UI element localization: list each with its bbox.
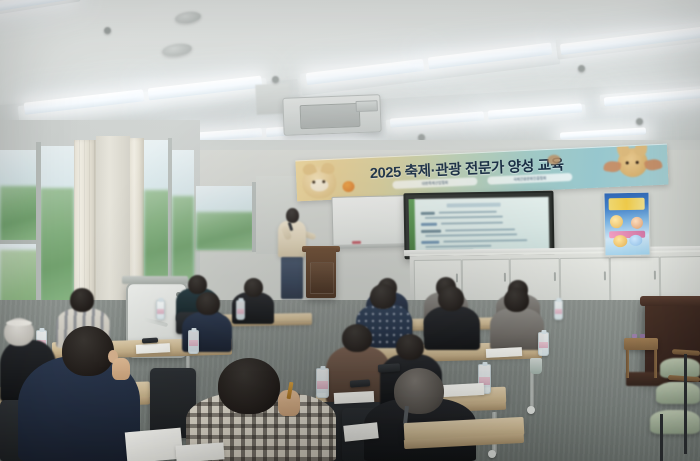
podium: [306, 248, 336, 298]
bottle-cap: [191, 328, 196, 332]
cabinet-handle-icon[interactable]: [504, 273, 506, 282]
cat-mascot-icon: [302, 166, 337, 200]
cabinet-handle-icon[interactable]: [604, 271, 606, 280]
org-badge-right: 국제관광문화진흥협회: [487, 172, 572, 184]
stacked-chair: [656, 382, 700, 404]
cabinet-handle-icon[interactable]: [654, 271, 656, 280]
slide-text-line: [425, 233, 517, 237]
slide-text-line: [441, 222, 503, 225]
water-bottle: [316, 368, 329, 398]
orange-fruit-icon: [342, 181, 354, 193]
side-table-item: [640, 334, 645, 338]
attendee-head: [342, 324, 372, 352]
air-conditioner-unit: [282, 94, 381, 136]
attendee-body: [424, 306, 480, 350]
poster-graphic: [613, 235, 627, 247]
water-bottle: [188, 330, 199, 354]
cat-ear-icon: [301, 162, 317, 177]
attendee-hand: [112, 358, 130, 380]
window-mullion: [36, 142, 41, 322]
smartphone[interactable]: [350, 379, 370, 387]
piano-lid: [640, 296, 700, 306]
bottle-cap: [541, 330, 546, 334]
partition-frame: [122, 276, 188, 284]
slide-text-line: [421, 212, 435, 215]
slide-heading: [447, 203, 501, 208]
cat-ear-icon: [320, 161, 336, 175]
paper-document: [125, 428, 183, 461]
podium-panel: [310, 262, 334, 294]
attendee-body: [490, 308, 544, 350]
attendee-head: [438, 286, 464, 311]
window-view-trees: [40, 188, 74, 316]
bottle-label: [157, 309, 164, 314]
attendee-head: [504, 288, 529, 312]
attendee-head: [196, 292, 220, 315]
water-bottle: [156, 300, 165, 320]
speaker-head: [286, 208, 299, 223]
attendee-head: [62, 326, 114, 376]
wall-poster: [603, 192, 650, 257]
org-badge-left: 대한축제산업협회: [392, 177, 477, 189]
stacked-chair: [650, 410, 700, 434]
table-caster: [527, 406, 535, 414]
attendee-head: [244, 278, 263, 297]
window-view-trees: [172, 196, 194, 280]
sprinkler-icon: [578, 65, 585, 72]
paper-document: [175, 442, 224, 461]
bottle-cap: [482, 362, 487, 366]
cabinet-handle-icon[interactable]: [554, 272, 556, 281]
bat-ear-icon: [634, 144, 649, 157]
table-caster: [488, 450, 496, 458]
side-table: [624, 338, 658, 350]
poster-title-banner: [609, 198, 645, 211]
bottle-label: [317, 381, 328, 389]
bottle-cap: [556, 298, 561, 302]
sprinkler-icon: [104, 27, 111, 34]
window-view-trees: [144, 190, 170, 290]
slide-text-line: [425, 216, 503, 219]
slide-text-line: [421, 241, 439, 244]
bat-wing-icon: [644, 157, 663, 172]
slide-text-line: [421, 230, 441, 233]
lecture-room-photo: 2025 축제·관광 전문가 양성 교육 대한축제산업협회 국제관광문화진흥협회: [0, 0, 700, 461]
speaker-pants: [281, 255, 303, 299]
poster-graphic: [629, 235, 642, 246]
whiteboard: [331, 195, 406, 249]
water-bottle: [554, 300, 563, 320]
drink-cup: [530, 358, 542, 374]
bottle-cap: [39, 328, 44, 332]
attendee-head: [370, 284, 396, 309]
whiteboard-marker: [352, 241, 361, 244]
paper-document: [486, 347, 522, 358]
paper-document: [442, 383, 485, 397]
window-blind: [130, 138, 144, 288]
window-view-trees: [196, 212, 254, 250]
smartphone[interactable]: [378, 363, 401, 373]
attendee-head: [396, 334, 424, 360]
sprinkler-icon: [272, 76, 279, 83]
attendee-head: [188, 275, 207, 294]
slide-text-line: [443, 239, 527, 242]
bat-mascot-icon: [617, 147, 648, 177]
paper-document: [136, 343, 170, 354]
window-view-trees: [0, 186, 40, 242]
water-bottle: [538, 332, 549, 356]
poster-graphic: [610, 215, 623, 228]
bottle-label: [539, 342, 548, 348]
bat-wing-icon: [603, 160, 622, 174]
poster-graphic: [631, 217, 643, 229]
chair-leg: [660, 414, 663, 461]
bottle-cap: [238, 298, 243, 302]
screen-document: [415, 197, 550, 254]
slide-text-line: [439, 211, 497, 214]
attendee-head: [394, 368, 444, 414]
wall-pillar: [96, 136, 130, 326]
side-table-item: [632, 334, 637, 338]
hair-accessory: [6, 320, 32, 326]
bat-ear-icon: [615, 144, 631, 158]
bottle-label: [555, 309, 562, 314]
bat-eye-icon: [626, 161, 629, 164]
sprinkler-icon: [636, 118, 643, 125]
chair-leg: [684, 354, 687, 454]
attendee-head: [218, 358, 280, 414]
table-leg: [654, 350, 657, 378]
cabinet-handle-icon[interactable]: [456, 273, 458, 282]
slide-text-line: [421, 223, 437, 226]
ac-grille: [300, 103, 361, 129]
bottle-cap: [320, 366, 325, 370]
paper-document: [334, 391, 375, 404]
bottle-label: [237, 309, 244, 314]
ac-vent: [355, 100, 377, 112]
water-bottle: [236, 300, 245, 320]
attendee-head: [70, 288, 94, 312]
slide-text-line: [425, 245, 491, 248]
table-leg: [626, 350, 629, 378]
bottle-label: [189, 340, 198, 346]
bottle-cap: [158, 298, 163, 302]
bat-eye-icon: [636, 161, 639, 164]
slide-text-line: [445, 228, 515, 231]
